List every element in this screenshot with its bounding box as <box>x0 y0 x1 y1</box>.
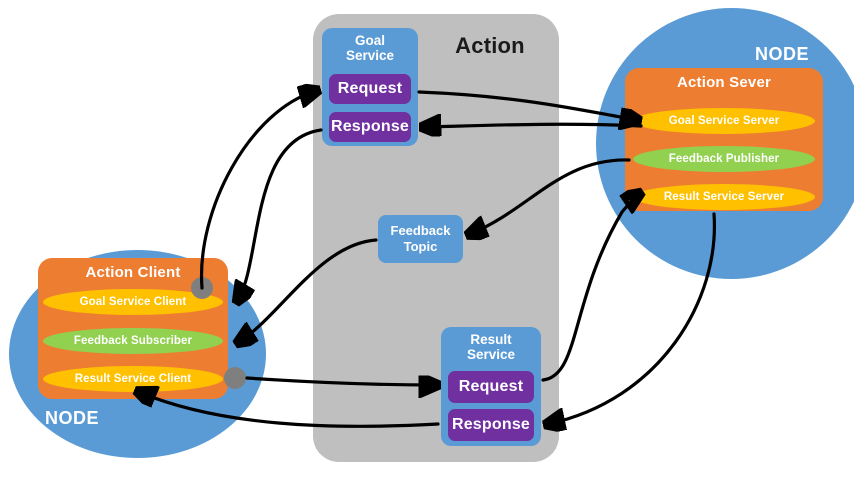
client-node-label: NODE <box>45 408 99 429</box>
interface-result-service-client[interactable]: Result Service Client <box>43 366 223 392</box>
arrow-response-to-goal-client <box>238 130 321 300</box>
goal-service-response[interactable]: Response <box>329 112 411 142</box>
connector-dot-result-client <box>224 367 246 389</box>
feedback-topic-line1: Feedback <box>391 223 451 239</box>
action-panel-title: Action <box>430 32 550 60</box>
result-service-box: Result Service Request Response <box>441 327 541 446</box>
goal-service-title: Goal Service <box>322 28 418 63</box>
goal-service-title-line1: Goal <box>322 33 418 48</box>
connector-dot-goal-client <box>191 277 213 299</box>
result-service-title: Result Service <box>441 327 541 362</box>
action-server-title: Action Sever <box>625 74 823 91</box>
result-service-title-line1: Result <box>441 332 541 347</box>
feedback-topic-box[interactable]: Feedback Topic <box>378 215 463 263</box>
interface-goal-service-server[interactable]: Goal Service Server <box>633 108 815 134</box>
result-service-title-line2: Service <box>441 347 541 362</box>
interface-result-service-server[interactable]: Result Service Server <box>633 184 815 210</box>
feedback-topic-line2: Topic <box>391 239 451 255</box>
result-service-response[interactable]: Response <box>448 409 534 441</box>
action-server-box: Action Sever Goal Service Server Feedbac… <box>625 68 823 211</box>
server-node-label: NODE <box>755 44 809 65</box>
interface-feedback-publisher[interactable]: Feedback Publisher <box>633 146 815 172</box>
feedback-topic-text: Feedback Topic <box>391 223 451 255</box>
goal-service-request[interactable]: Request <box>329 74 411 104</box>
diagram-canvas: Action NODE Action Sever Goal Service Se… <box>0 0 854 480</box>
goal-service-box: Goal Service Request Response <box>322 28 418 146</box>
interface-feedback-subscriber[interactable]: Feedback Subscriber <box>43 328 223 354</box>
result-service-request[interactable]: Request <box>448 371 534 403</box>
goal-service-title-line2: Service <box>322 48 418 63</box>
